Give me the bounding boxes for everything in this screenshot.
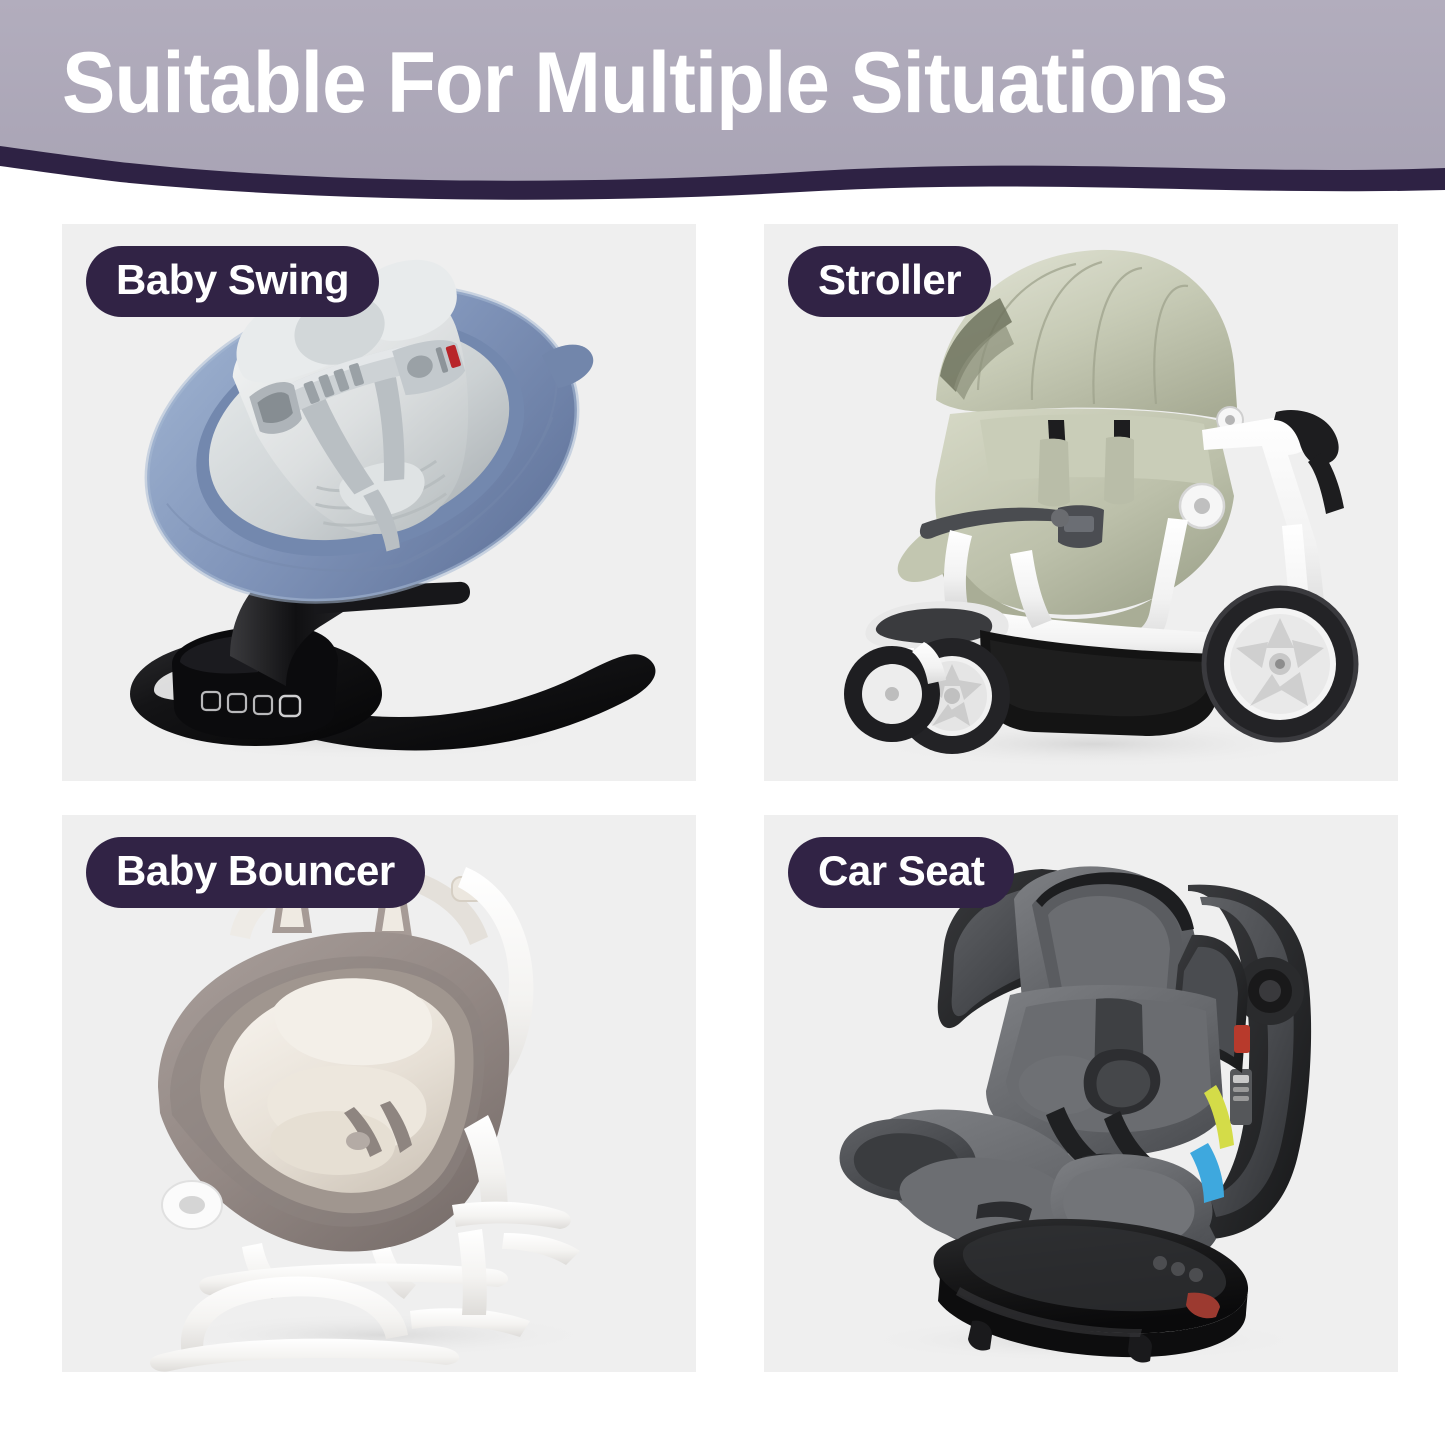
badge-baby-bouncer: Baby Bouncer: [86, 837, 425, 908]
panel-baby-bouncer: Baby Bouncer: [62, 815, 696, 1372]
red-tag: [1234, 1025, 1250, 1053]
stroller-rear-wheel: [1204, 588, 1356, 740]
badge-stroller: Stroller: [788, 246, 991, 317]
panel-baby-swing: Baby Swing: [62, 224, 696, 781]
panel-car-seat: Car Seat: [764, 815, 1398, 1372]
panel-stroller: Stroller: [764, 224, 1398, 781]
stroller-front-wheel: [844, 638, 1010, 754]
header-banner: Suitable For Multiple Situations: [0, 0, 1445, 200]
badge-car-seat: Car Seat: [788, 837, 1014, 908]
situations-grid: Baby Swing: [62, 224, 1398, 1372]
page-title: Suitable For Multiple Situations: [62, 38, 1178, 128]
badge-baby-swing: Baby Swing: [86, 246, 379, 317]
